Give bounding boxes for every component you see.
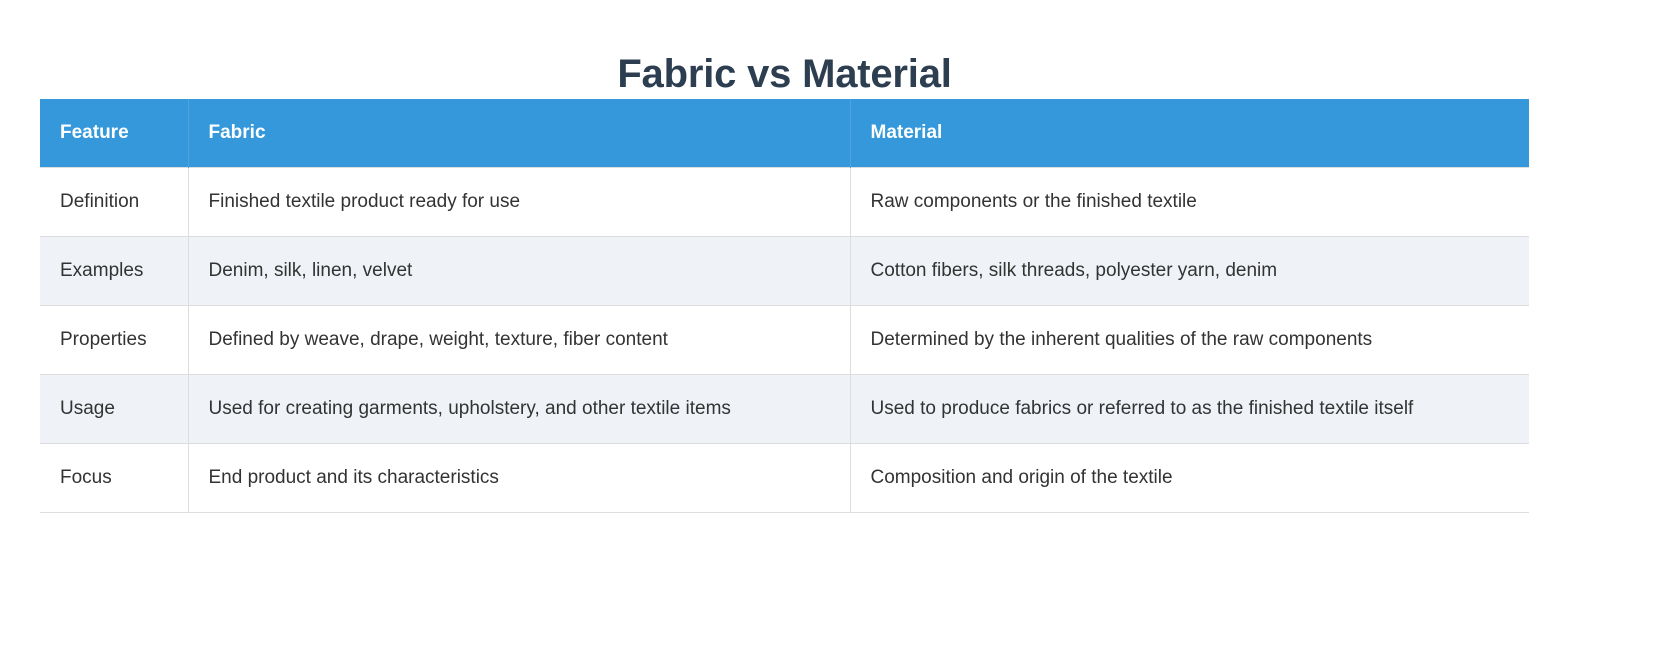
table-row: Usage Used for creating garments, uphols… <box>40 375 1529 444</box>
table-header-row: Feature Fabric Material <box>40 99 1529 168</box>
page-title: Fabric vs Material <box>40 49 1529 99</box>
table-header: Feature Fabric Material <box>40 99 1529 168</box>
cell-feature: Properties <box>40 306 188 375</box>
cell-feature: Focus <box>40 444 188 513</box>
cell-fabric: Denim, silk, linen, velvet <box>188 237 850 306</box>
cell-feature: Definition <box>40 168 188 237</box>
table-row: Focus End product and its characteristic… <box>40 444 1529 513</box>
cell-fabric: Finished textile product ready for use <box>188 168 850 237</box>
table-body: Definition Finished textile product read… <box>40 168 1529 513</box>
column-header-feature: Feature <box>40 99 188 168</box>
table-row: Definition Finished textile product read… <box>40 168 1529 237</box>
table-row: Examples Denim, silk, linen, velvet Cott… <box>40 237 1529 306</box>
cell-fabric: End product and its characteristics <box>188 444 850 513</box>
cell-material: Composition and origin of the textile <box>850 444 1529 513</box>
page-root: Fabric vs Material Feature Fabric Materi… <box>0 0 1680 662</box>
cell-material: Cotton fibers, silk threads, polyester y… <box>850 237 1529 306</box>
column-header-material: Material <box>850 99 1529 168</box>
table-row: Properties Defined by weave, drape, weig… <box>40 306 1529 375</box>
cell-material: Used to produce fabrics or referred to a… <box>850 375 1529 444</box>
comparison-table-container: Feature Fabric Material Definition Finis… <box>40 99 1529 513</box>
cell-material: Raw components or the finished textile <box>850 168 1529 237</box>
comparison-table: Feature Fabric Material Definition Finis… <box>40 99 1529 513</box>
cell-fabric: Used for creating garments, upholstery, … <box>188 375 850 444</box>
cell-fabric: Defined by weave, drape, weight, texture… <box>188 306 850 375</box>
column-header-fabric: Fabric <box>188 99 850 168</box>
cell-material: Determined by the inherent qualities of … <box>850 306 1529 375</box>
cell-feature: Usage <box>40 375 188 444</box>
cell-feature: Examples <box>40 237 188 306</box>
